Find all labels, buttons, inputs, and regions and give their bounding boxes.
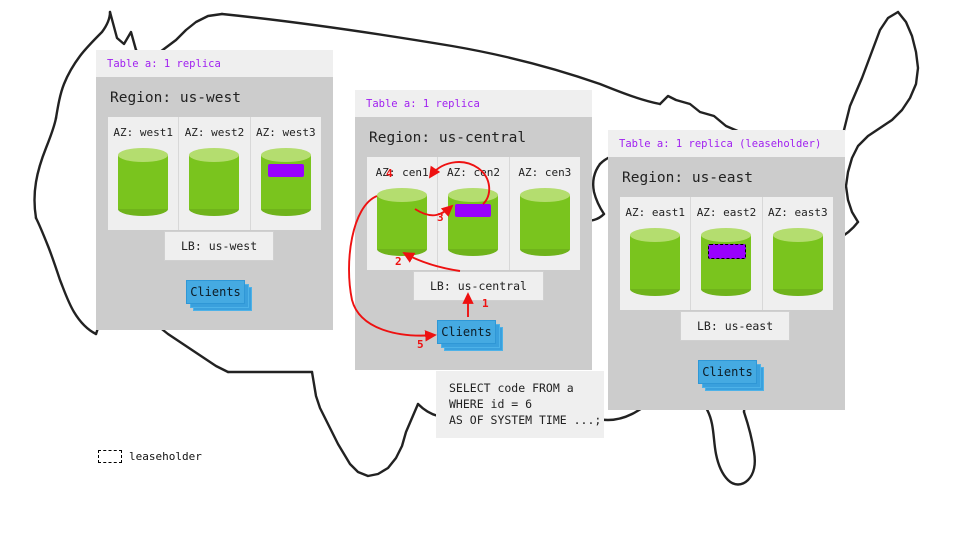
az-west3[interactable]: AZ: west3 bbox=[251, 117, 321, 230]
legend-leaseholder: leaseholder bbox=[98, 450, 202, 463]
load-balancer-us-west[interactable]: LB: us-west bbox=[164, 231, 274, 261]
clients-card-us-west[interactable]: Clients bbox=[186, 280, 245, 304]
step-number-4: 4 bbox=[386, 167, 393, 180]
az-cen2[interactable]: AZ: cen2 bbox=[438, 157, 509, 270]
clients-card-us-east[interactable]: Clients bbox=[698, 360, 757, 384]
region-panel-us-west: Table a: 1 replica Region: us-west AZ: w… bbox=[96, 50, 333, 330]
dashed-rectangle-icon bbox=[98, 450, 122, 463]
diagram-canvas: Table a: 1 replica Region: us-west AZ: w… bbox=[0, 0, 960, 540]
node-cylinder-cen2[interactable] bbox=[448, 188, 498, 256]
sql-query-note: SELECT code FROM a WHERE id = 6 AS OF SY… bbox=[436, 371, 604, 438]
replica-block-cen2[interactable] bbox=[455, 204, 491, 217]
cylinder-top bbox=[118, 148, 168, 162]
clients-stack-us-central[interactable]: Clients bbox=[437, 320, 501, 350]
az-east1[interactable]: AZ: east1 bbox=[620, 197, 691, 310]
region-title-us-central: Region: us-central bbox=[355, 117, 592, 157]
node-cylinder-west3[interactable] bbox=[261, 148, 311, 216]
az-east3[interactable]: AZ: east3 bbox=[763, 197, 833, 310]
az-east2[interactable]: AZ: east2 bbox=[691, 197, 762, 310]
az-label-east2: AZ: east2 bbox=[691, 206, 761, 219]
az-label-cen3: AZ: cen3 bbox=[510, 166, 580, 179]
cylinder-body bbox=[773, 235, 823, 289]
region-panel-us-central: Table a: 1 replica Region: us-central AZ… bbox=[355, 90, 592, 370]
az-label-west3: AZ: west3 bbox=[251, 126, 321, 139]
az-label-west2: AZ: west2 bbox=[179, 126, 249, 139]
az-label-east1: AZ: east1 bbox=[620, 206, 690, 219]
az-row-us-west: AZ: west1 AZ: west2 AZ: west3 bbox=[108, 117, 321, 230]
node-cylinder-west1[interactable] bbox=[118, 148, 168, 216]
step-number-3: 3 bbox=[437, 211, 444, 224]
az-west1[interactable]: AZ: west1 bbox=[108, 117, 179, 230]
cylinder-body bbox=[118, 155, 168, 209]
step-number-2: 2 bbox=[395, 255, 402, 268]
az-label-east3: AZ: east3 bbox=[763, 206, 833, 219]
az-cen3[interactable]: AZ: cen3 bbox=[510, 157, 580, 270]
node-cylinder-west2[interactable] bbox=[189, 148, 239, 216]
region-panel-us-east: Table a: 1 replica (leaseholder) Region:… bbox=[608, 130, 845, 410]
az-row-us-central: AZ: cen1 AZ: cen2 AZ: cen3 bbox=[367, 157, 580, 270]
clients-stack-us-east[interactable]: Clients bbox=[698, 360, 762, 390]
clients-card-us-central[interactable]: Clients bbox=[437, 320, 496, 344]
cylinder-body bbox=[520, 195, 570, 249]
node-cylinder-cen3[interactable] bbox=[520, 188, 570, 256]
node-cylinder-east3[interactable] bbox=[773, 228, 823, 296]
cylinder-top bbox=[630, 228, 680, 242]
clients-stack-us-west[interactable]: Clients bbox=[186, 280, 250, 310]
cylinder-body bbox=[189, 155, 239, 209]
replica-block-west3[interactable] bbox=[268, 164, 304, 177]
replica-block-east2-leaseholder[interactable] bbox=[708, 244, 746, 259]
node-cylinder-cen1[interactable] bbox=[377, 188, 427, 256]
cylinder-top bbox=[520, 188, 570, 202]
az-row-us-east: AZ: east1 AZ: east2 AZ: east3 bbox=[620, 197, 833, 310]
cylinder-top bbox=[377, 188, 427, 202]
az-cen1[interactable]: AZ: cen1 bbox=[367, 157, 438, 270]
region-header-us-east: Table a: 1 replica (leaseholder) bbox=[608, 130, 845, 157]
node-cylinder-east1[interactable] bbox=[630, 228, 680, 296]
az-west2[interactable]: AZ: west2 bbox=[179, 117, 250, 230]
load-balancer-us-central[interactable]: LB: us-central bbox=[413, 271, 544, 301]
region-header-us-west: Table a: 1 replica bbox=[96, 50, 333, 77]
node-cylinder-east2[interactable] bbox=[701, 228, 751, 296]
region-title-us-west: Region: us-west bbox=[96, 77, 333, 117]
cylinder-body bbox=[630, 235, 680, 289]
az-label-west1: AZ: west1 bbox=[108, 126, 178, 139]
step-number-1: 1 bbox=[482, 297, 489, 310]
cylinder-body bbox=[377, 195, 427, 249]
region-title-us-east: Region: us-east bbox=[608, 157, 845, 197]
az-label-cen1: AZ: cen1 bbox=[367, 166, 437, 179]
step-number-5: 5 bbox=[417, 338, 424, 351]
legend-label: leaseholder bbox=[129, 450, 202, 463]
load-balancer-us-east[interactable]: LB: us-east bbox=[680, 311, 790, 341]
cylinder-top bbox=[261, 148, 311, 162]
region-header-us-central: Table a: 1 replica bbox=[355, 90, 592, 117]
cylinder-top bbox=[773, 228, 823, 242]
az-label-cen2: AZ: cen2 bbox=[438, 166, 508, 179]
